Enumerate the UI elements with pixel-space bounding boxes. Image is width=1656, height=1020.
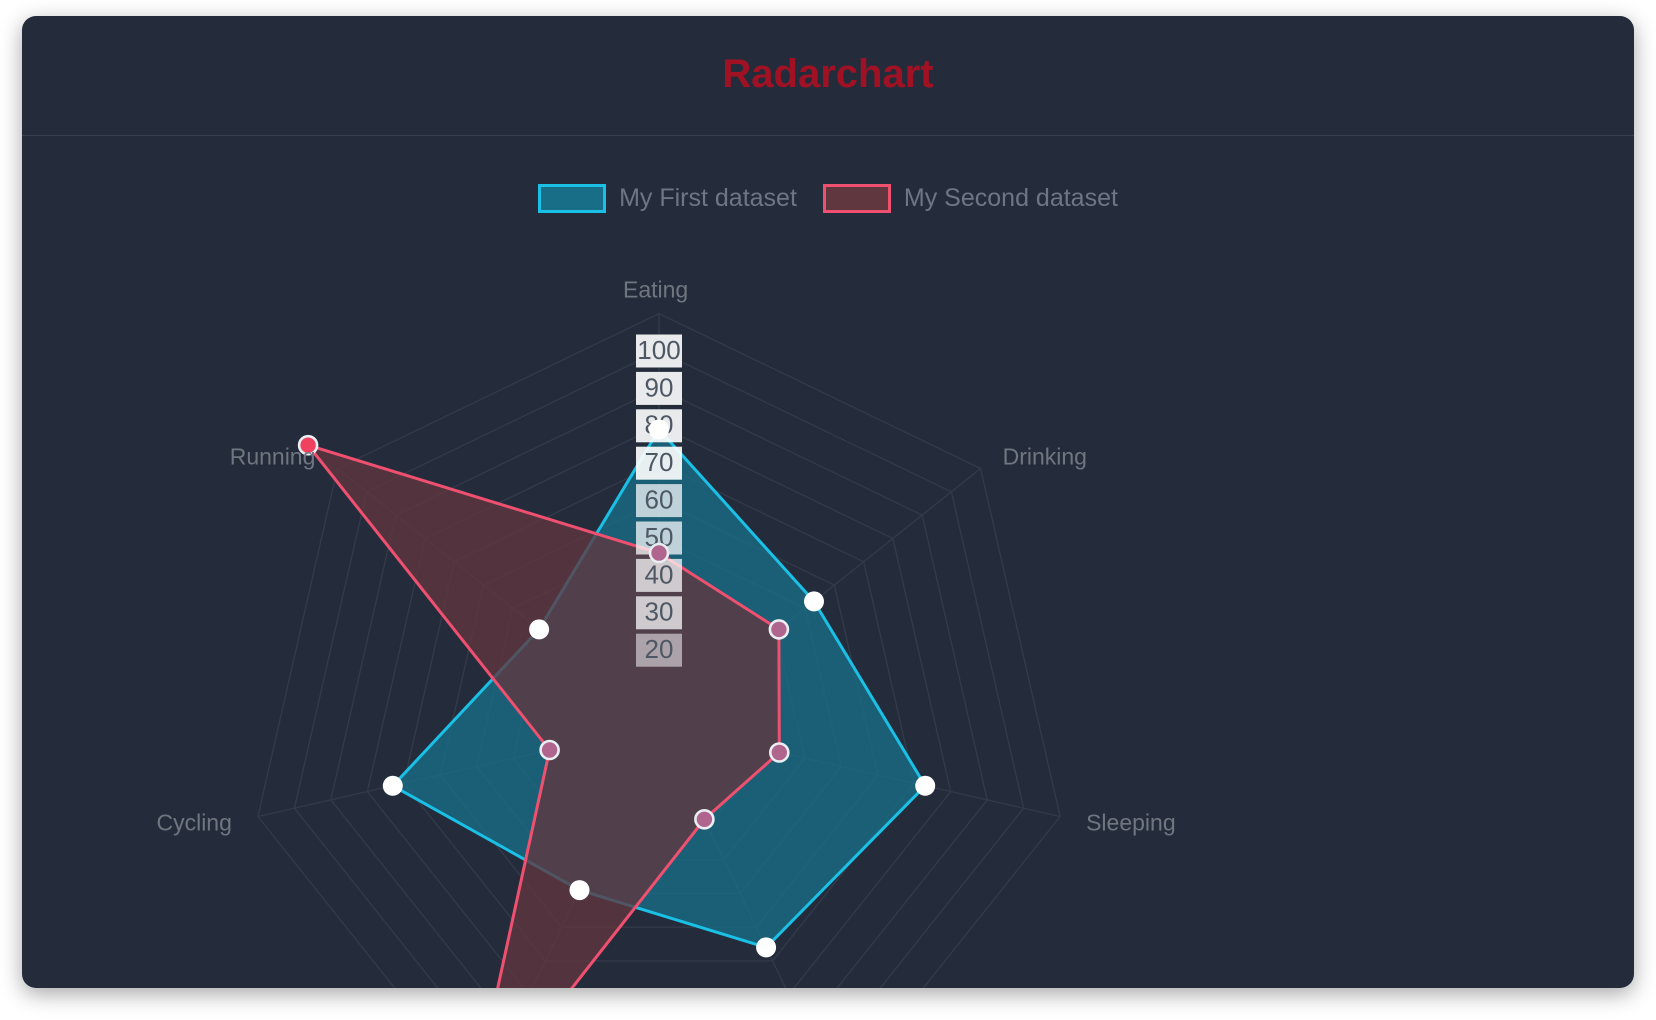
data-point[interactable] bbox=[770, 744, 788, 762]
data-point[interactable] bbox=[770, 620, 788, 638]
data-point[interactable] bbox=[529, 619, 549, 639]
data-point[interactable] bbox=[915, 776, 935, 796]
data-point[interactable] bbox=[383, 776, 403, 796]
radar-chart-area[interactable]: 2030405060708090100EatingDrinkingSleepin… bbox=[22, 136, 1634, 988]
data-point[interactable] bbox=[650, 544, 668, 562]
data-point[interactable] bbox=[570, 880, 590, 900]
card-header: Radarchart bbox=[22, 16, 1634, 136]
axis-label-running: Running bbox=[230, 444, 316, 470]
svg-text:70: 70 bbox=[645, 447, 674, 477]
axis-label-cycling: Cycling bbox=[156, 810, 231, 836]
chart-card: Radarchart My First dataset My Second da… bbox=[22, 16, 1634, 988]
svg-text:20: 20 bbox=[645, 634, 674, 664]
axis-label-sleeping: Sleeping bbox=[1086, 810, 1176, 836]
page-root: Radarchart My First dataset My Second da… bbox=[0, 0, 1656, 1020]
data-point[interactable] bbox=[695, 810, 713, 828]
svg-text:40: 40 bbox=[645, 559, 674, 589]
axis-label-eating: Eating bbox=[623, 277, 688, 303]
data-point[interactable] bbox=[804, 591, 824, 611]
axis-label-drinking: Drinking bbox=[1003, 444, 1087, 470]
svg-text:90: 90 bbox=[645, 372, 674, 402]
radar-tick-labels: 2030405060708090100 bbox=[636, 335, 682, 667]
page-title: Radarchart bbox=[22, 52, 1634, 97]
svg-text:60: 60 bbox=[645, 484, 674, 514]
svg-text:100: 100 bbox=[637, 335, 680, 365]
data-point[interactable] bbox=[541, 741, 559, 759]
radar-chart-svg[interactable]: 2030405060708090100EatingDrinkingSleepin… bbox=[22, 136, 1634, 988]
data-point[interactable] bbox=[649, 420, 669, 440]
data-point[interactable] bbox=[756, 937, 776, 957]
svg-text:30: 30 bbox=[645, 597, 674, 627]
